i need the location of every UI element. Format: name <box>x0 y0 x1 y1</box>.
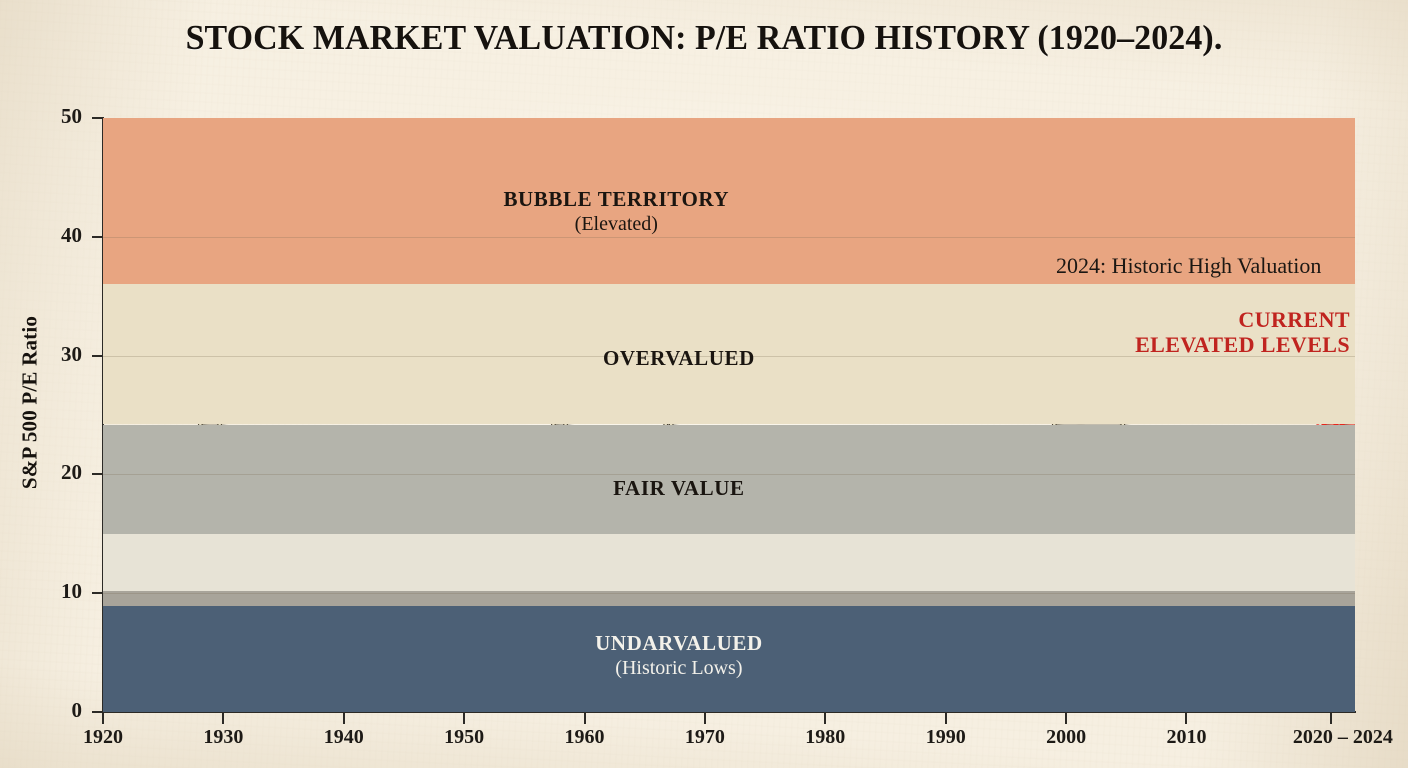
band-label-main-undervalued: UNDARVALUED <box>595 631 763 656</box>
page-title: STOCK MARKET VALUATION: P/E RATIO HISTOR… <box>21 18 1387 58</box>
y-tick-label-0: 0 <box>22 698 82 723</box>
band-lowfair <box>103 534 1355 591</box>
y-tick-label-50: 50 <box>22 104 82 129</box>
x-tick-mark-1960 <box>584 713 586 724</box>
x-tick-mark-1920 <box>102 713 104 724</box>
annotation-historic-high: 2024: Historic High Valuation <box>1056 253 1321 279</box>
annotation-current-elevated-levels: CURRENT ELEVATED LEVELS <box>1135 308 1350 357</box>
band-label-main-fairvalue: FAIR VALUE <box>613 476 744 501</box>
x-tick-label-1960: 1960 <box>565 726 605 749</box>
x-tick-label-1930: 1930 <box>203 726 243 749</box>
x-tick-label-1970: 1970 <box>685 726 725 749</box>
x-tick-label-1950: 1950 <box>444 726 484 749</box>
x-tick-label-1990: 1990 <box>926 726 966 749</box>
x-tick-mark-1940 <box>343 713 345 724</box>
annotation-current-line2: ELEVATED LEVELS <box>1135 333 1350 358</box>
y-tick-mark-50 <box>92 117 103 119</box>
y-tick-mark-40 <box>92 236 103 238</box>
chart-root: STOCK MARKET VALUATION: P/E RATIO HISTOR… <box>0 0 1408 768</box>
x-tick-mark-1950 <box>463 713 465 724</box>
y-axis-title: S&P 500 P/E Ratio <box>18 193 43 613</box>
annotation-current-line1: CURRENT <box>1135 308 1350 333</box>
y-tick-mark-10 <box>92 592 103 594</box>
x-tick-mark-1980 <box>824 713 826 724</box>
x-tick-mark-1990 <box>945 713 947 724</box>
band-label-sub-undervalued: (Historic Lows) <box>595 657 763 680</box>
band-label-undervalued: UNDARVALUED(Historic Lows) <box>595 631 763 680</box>
y-tick-label-30: 30 <box>22 342 82 367</box>
band-label-main-overvalued: OVERVALUED <box>603 346 755 371</box>
gridline-40 <box>103 237 1355 238</box>
y-tick-label-10: 10 <box>22 579 82 604</box>
band-label-sub-bubble: (Elevated) <box>503 213 729 236</box>
x-tick-label-2020–2024: 2020 – 2024 <box>1293 726 1393 749</box>
y-tick-mark-30 <box>92 355 103 357</box>
plot-area: BUBBLE TERRITORY(Elevated)OVERVALUEDFAIR… <box>103 118 1355 712</box>
x-tick-mark-1930 <box>222 713 224 724</box>
band-label-main-bubble: BUBBLE TERRITORY <box>503 187 729 212</box>
x-tick-label-1980: 1980 <box>805 726 845 749</box>
x-tick-label-2000: 2000 <box>1046 726 1086 749</box>
x-tick-mark-2000 <box>1065 713 1067 724</box>
y-tick-mark-20 <box>92 473 103 475</box>
y-tick-label-40: 40 <box>22 223 82 248</box>
x-tick-mark-2020–2024 <box>1330 713 1332 724</box>
x-tick-mark-1970 <box>704 713 706 724</box>
band-label-overvalued: OVERVALUED <box>603 346 755 371</box>
y-tick-label-20: 20 <box>22 460 82 485</box>
x-tick-label-2010: 2010 <box>1166 726 1206 749</box>
gridline-10 <box>103 593 1355 594</box>
band-label-fairvalue: FAIR VALUE <box>613 476 744 501</box>
x-tick-label-1940: 1940 <box>324 726 364 749</box>
x-tick-mark-2010 <box>1185 713 1187 724</box>
band-label-bubble: BUBBLE TERRITORY(Elevated) <box>503 187 729 236</box>
x-tick-label-1920: 1920 <box>83 726 123 749</box>
